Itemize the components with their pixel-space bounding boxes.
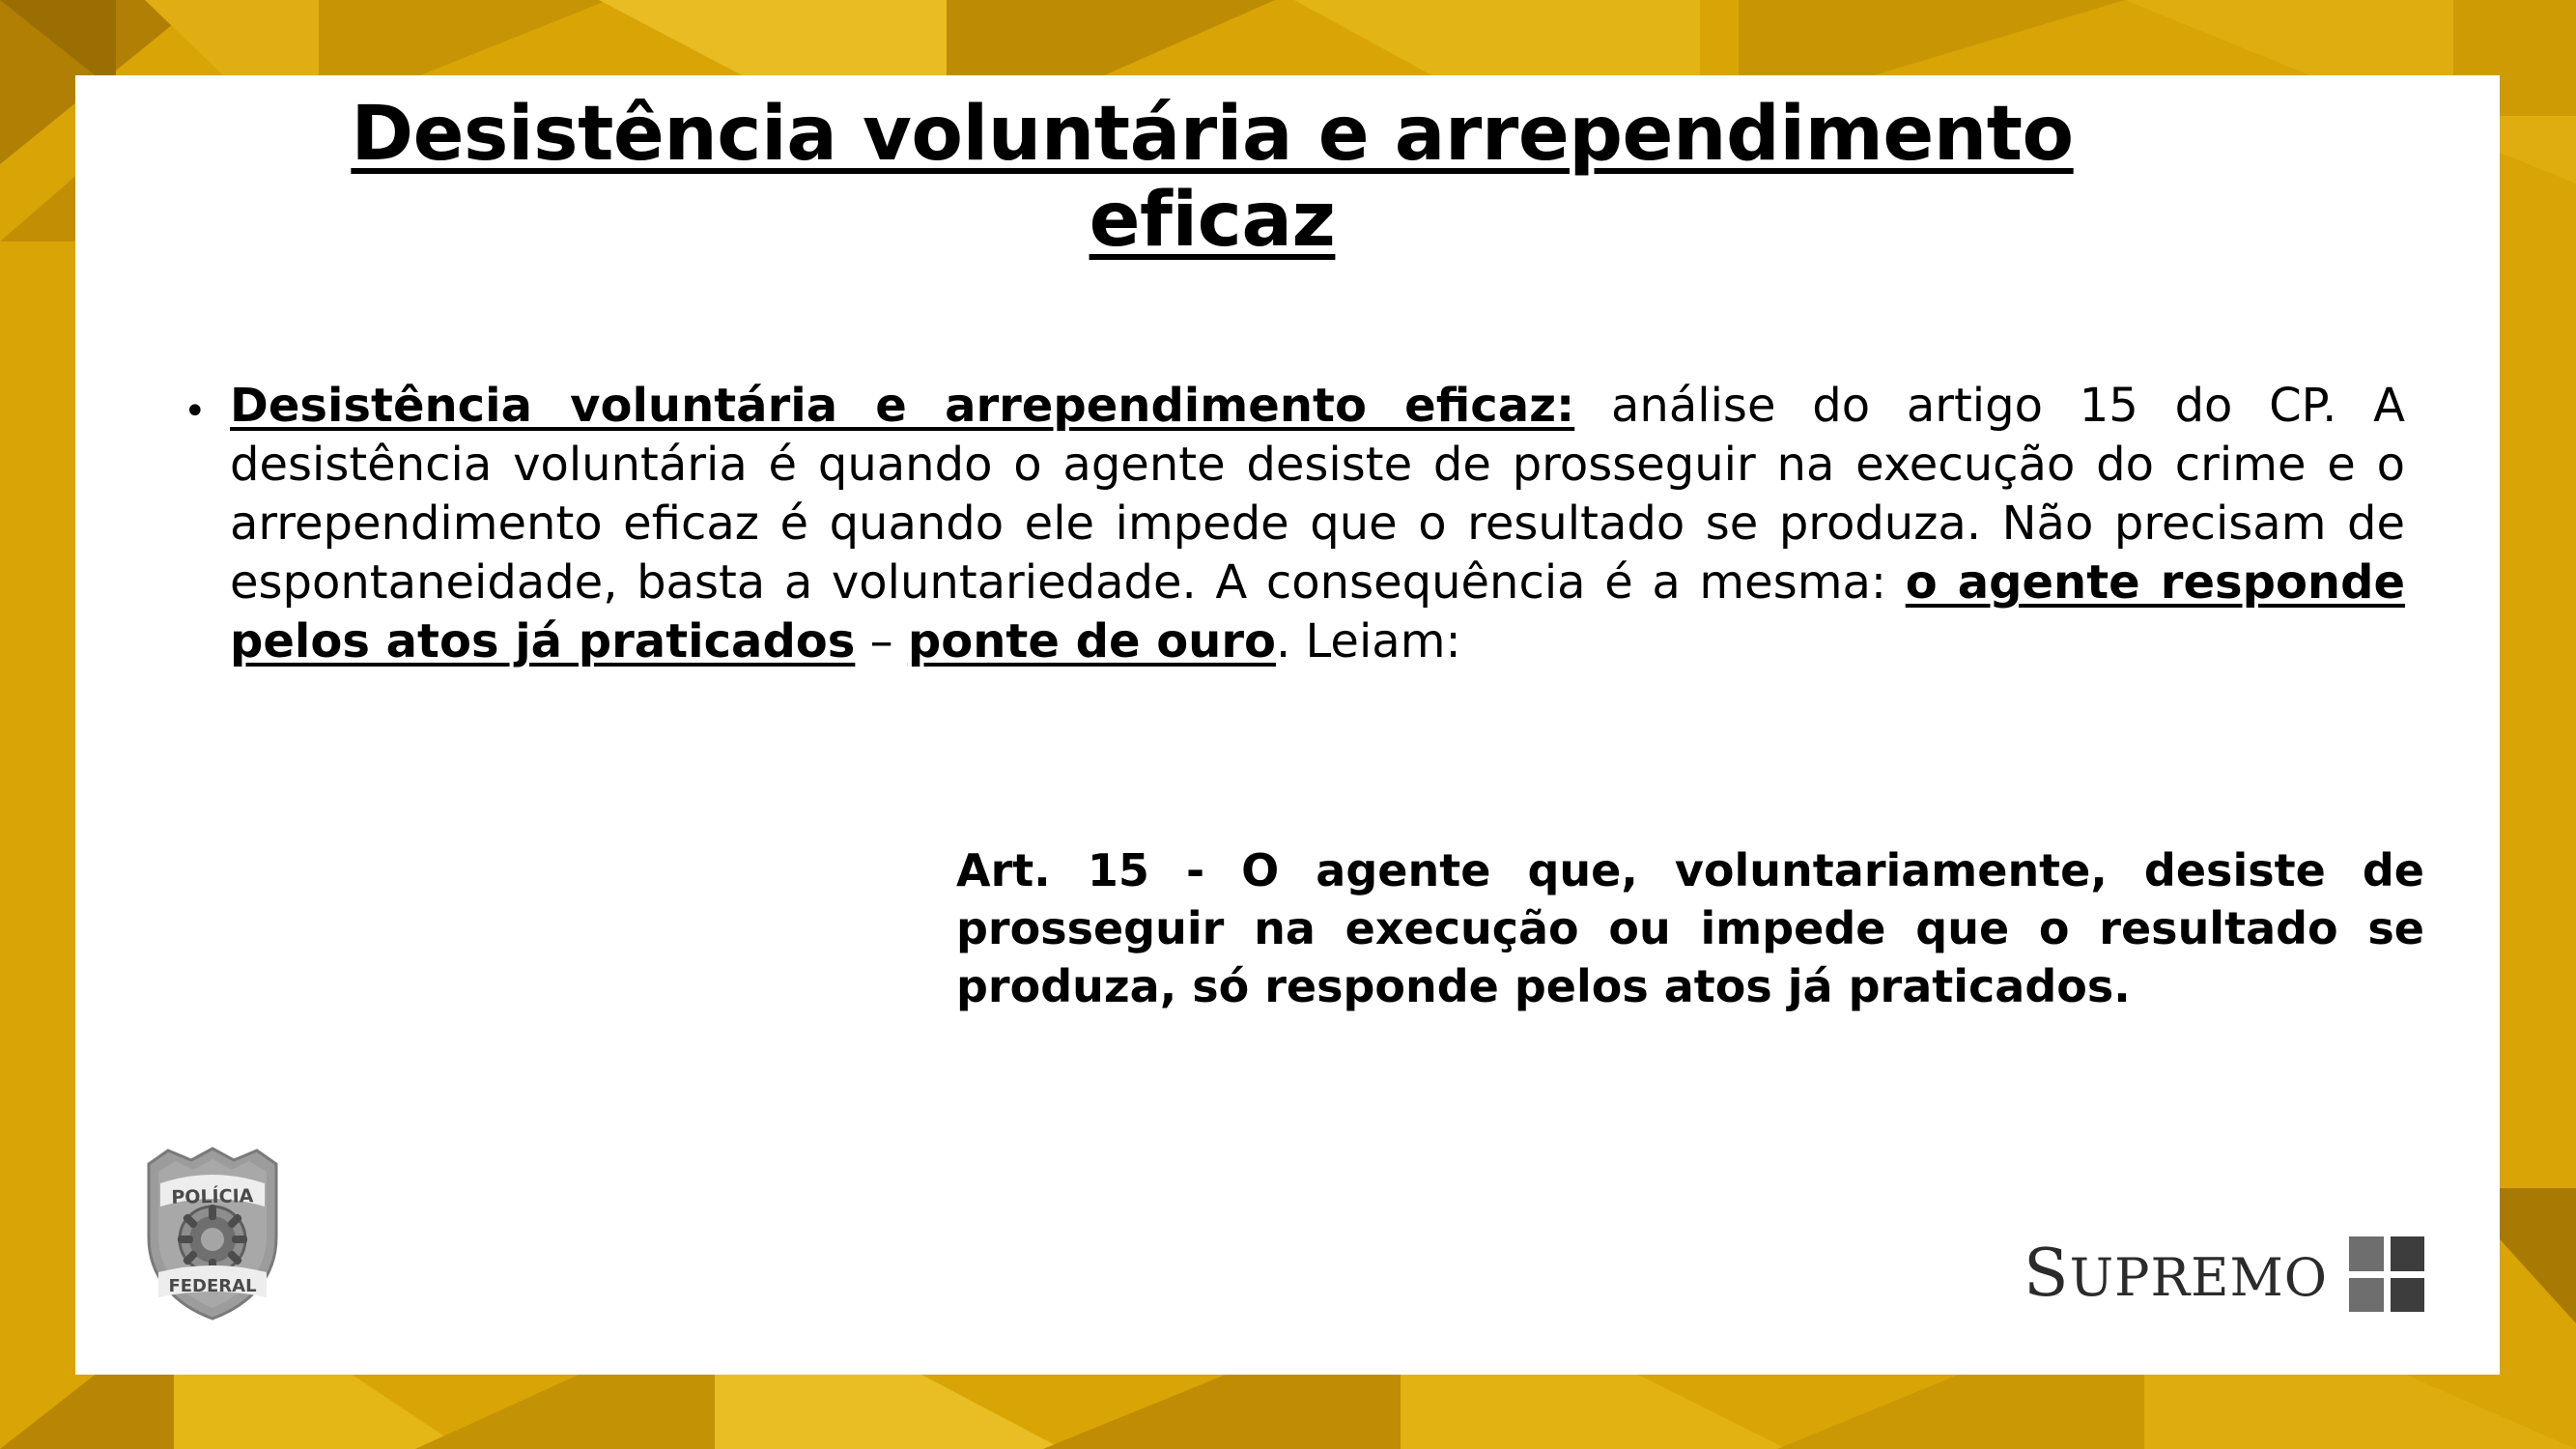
grid-square [2391,1278,2425,1313]
supremo-logo: SUPREMO [2024,1236,2424,1312]
bullet-tail-text: . Leiam: [1276,614,1461,668]
title-line-2: eficaz [1090,177,1336,264]
bullet-paragraph: Desistência voluntária e arrependimento … [230,377,2405,671]
grid-square [2391,1236,2425,1271]
bullet-lead-term: Desistência voluntária e arrependimento … [230,379,1574,433]
slide-canvas: Desistência voluntária e arrependimento … [0,0,2576,1449]
grid-square [2349,1278,2384,1313]
title-line-1: Desistência voluntária e arrependimento [351,91,2073,178]
article-quote-text: Art. 15 - O agente que, voluntariamente,… [956,842,2424,1015]
slide-content-card [75,75,2500,1375]
grid-square [2349,1236,2384,1271]
svg-text:FEDERAL: FEDERAL [168,1276,256,1296]
bullet-emphasis-two: ponte de ouro [908,614,1276,668]
bullet-marker-icon: • [184,377,230,431]
supremo-grid-icon [2349,1236,2424,1312]
policia-federal-badge-icon: POLÍCIA FEDERAL [135,1145,290,1323]
supremo-rest: UPREMO [2070,1247,2328,1308]
supremo-wordmark: SUPREMO [2024,1241,2328,1307]
supremo-initial: S [2024,1236,2070,1312]
bullet-separator: – [855,614,908,668]
page-title: Desistência voluntária e arrependimento … [126,92,2299,264]
bullet-list-item: • Desistência voluntária e arrependiment… [184,377,2405,671]
